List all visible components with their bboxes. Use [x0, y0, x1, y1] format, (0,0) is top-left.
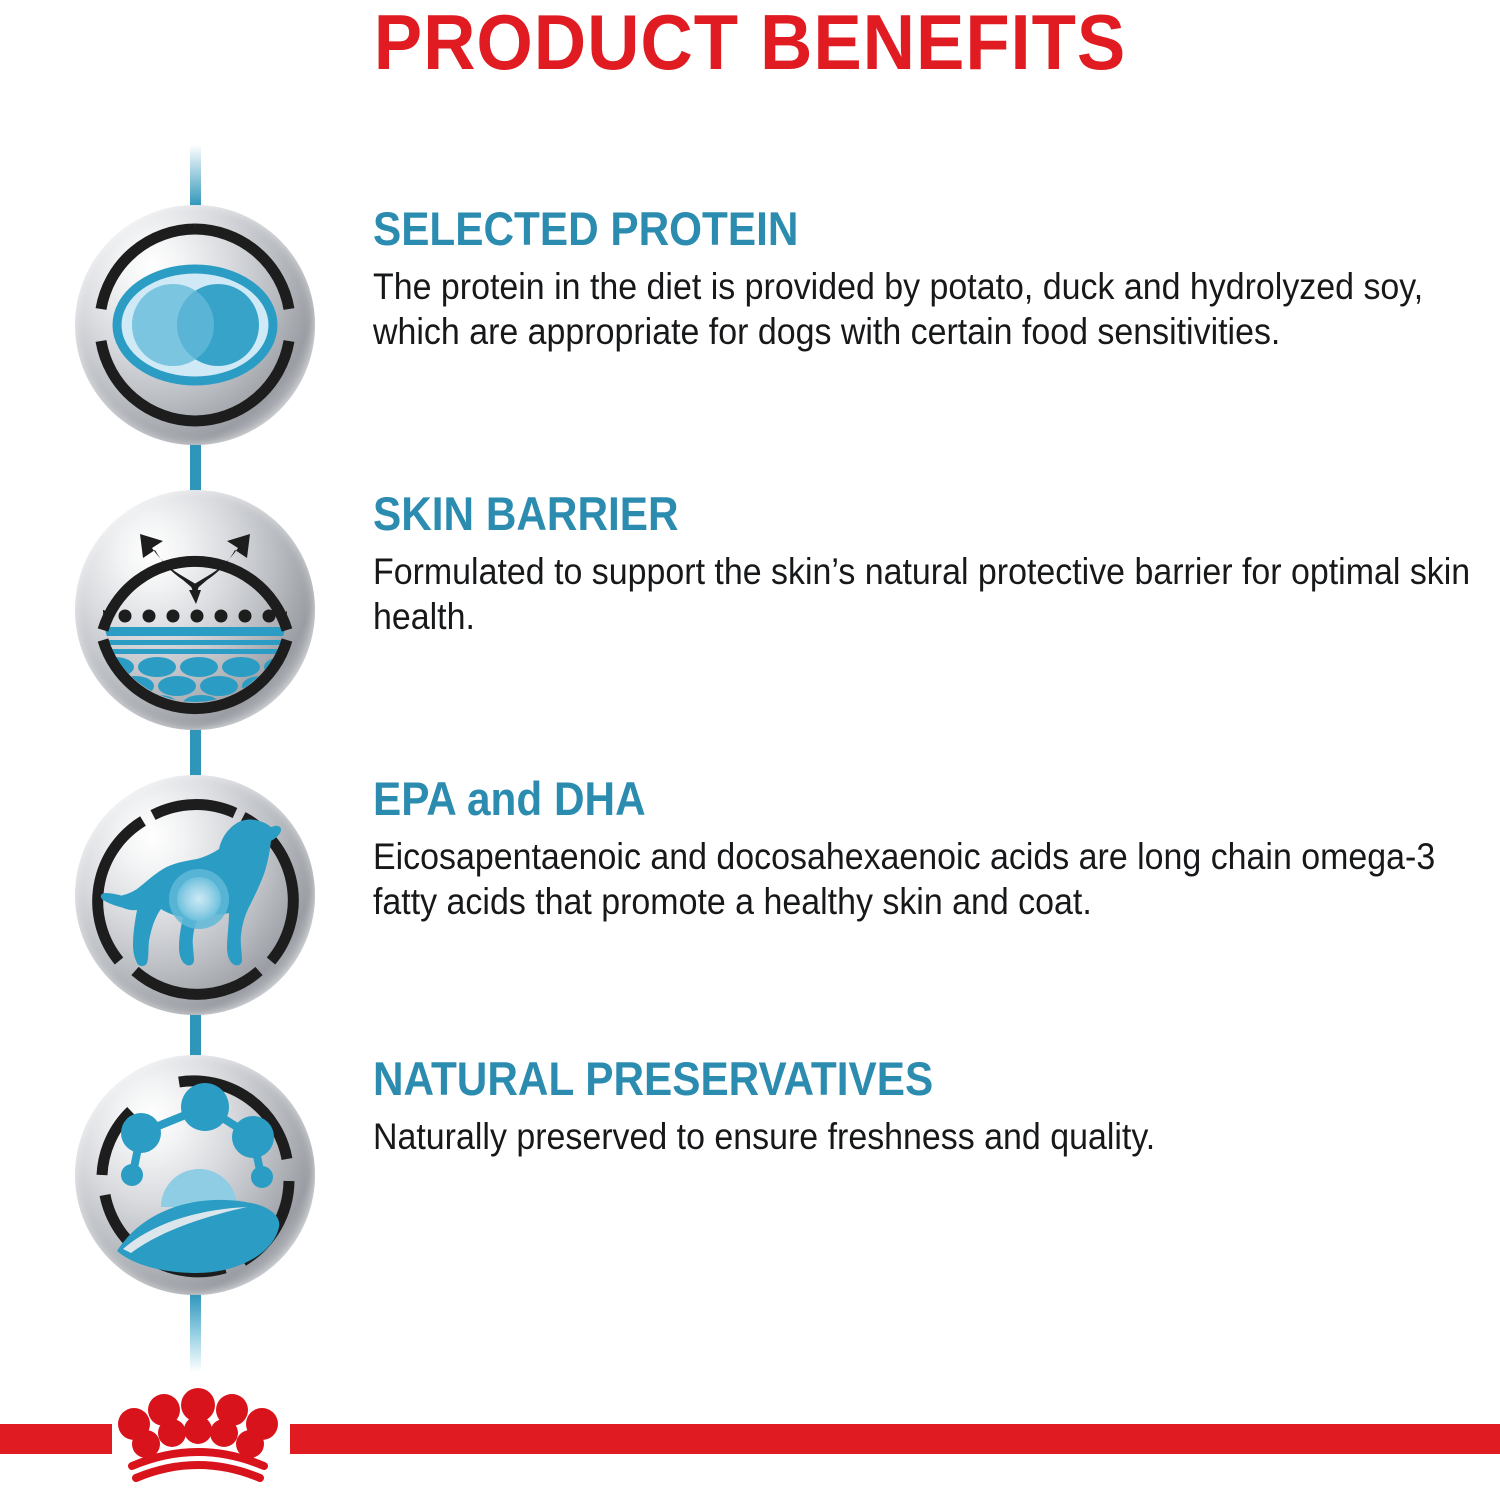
benefit-heading: SKIN BARRIER	[373, 490, 1379, 537]
royal-canin-crown-logo	[108, 1374, 288, 1486]
natural-preservatives-icon	[75, 1055, 315, 1295]
benefit-heading: EPA and DHA	[373, 775, 1379, 822]
footer-bar-right	[290, 1424, 1500, 1454]
benefit-text-skin-barrier: SKIN BARRIER Formulated to support the s…	[373, 490, 1491, 640]
benefit-text-selected-protein: SELECTED PROTEIN The protein in the diet…	[373, 205, 1491, 355]
benefit-body: Naturally preserved to ensure freshness …	[373, 1114, 1486, 1159]
connector-line-bottom	[190, 1294, 201, 1372]
footer	[0, 1368, 1500, 1500]
page-title: PRODUCT BENEFITS	[53, 2, 1448, 84]
benefit-heading: NATURAL PRESERVATIVES	[373, 1055, 1379, 1102]
product-benefits-page: PRODUCT BENEFITS	[0, 0, 1500, 1500]
benefit-text-natural-preservatives: NATURAL PRESERVATIVES Naturally preserve…	[373, 1055, 1491, 1159]
benefit-text-epa-dha: EPA and DHA Eicosapentaenoic and docosah…	[373, 775, 1491, 925]
benefit-body: The protein in the diet is provided by p…	[373, 264, 1486, 355]
benefit-body: Formulated to support the skin’s natural…	[373, 549, 1486, 640]
epa-dha-icon	[75, 775, 315, 1015]
skin-barrier-icon	[75, 490, 315, 730]
benefit-body: Eicosapentaenoic and docosahexaenoic aci…	[373, 834, 1486, 925]
connector-line-2	[190, 726, 201, 778]
selected-protein-icon	[75, 205, 315, 445]
connector-line-1	[190, 440, 201, 492]
footer-bar-left	[0, 1424, 112, 1454]
benefit-heading: SELECTED PROTEIN	[373, 205, 1379, 252]
